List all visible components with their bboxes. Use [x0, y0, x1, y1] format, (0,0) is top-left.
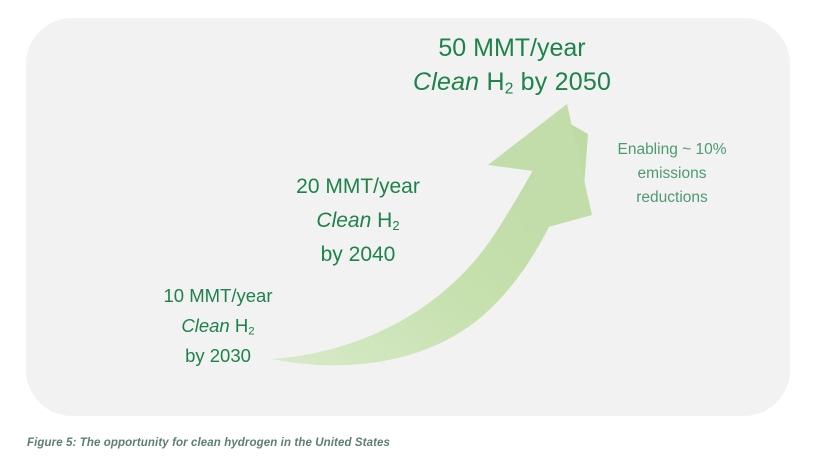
milestone-2040-h-symbol: H: [377, 209, 392, 232]
milestone-2040-fuel: Clean H2: [238, 204, 478, 238]
milestone-2050-fuel: Clean H2 by 2050: [362, 66, 662, 100]
milestone-2040-h-subscript: 2: [392, 218, 399, 233]
figure-container: 10 MMT/year Clean H2 by 2030 20 MMT/year…: [0, 0, 828, 474]
milestone-2030: 10 MMT/year Clean H2 by 2030: [112, 281, 324, 371]
milestone-2030-fuel: Clean H2: [112, 311, 324, 341]
milestone-2040-clean-word: Clean: [316, 209, 371, 232]
milestone-2030-amount: 10 MMT/year: [112, 281, 324, 311]
milestone-2030-year: by 2030: [112, 341, 324, 371]
milestone-2050: 50 MMT/year Clean H2 by 2050: [362, 32, 662, 100]
milestone-2040-amount: 20 MMT/year: [238, 170, 478, 204]
milestone-2050-amount: 50 MMT/year: [362, 32, 662, 66]
milestone-2040: 20 MMT/year Clean H2 by 2040: [238, 170, 478, 272]
emissions-annotation: Enabling ~ 10% emissions reductions: [588, 138, 756, 210]
emissions-annotation-line2: emissions: [588, 162, 756, 186]
milestone-2050-h-subscript: 2: [505, 80, 514, 97]
milestone-2050-h-symbol: H: [486, 68, 504, 96]
milestone-2030-h-symbol: H: [235, 315, 248, 336]
emissions-annotation-line3: reductions: [588, 186, 756, 210]
milestone-2030-clean-word: Clean: [181, 315, 229, 336]
milestone-2050-year: by 2050: [514, 68, 612, 96]
milestone-2030-h-subscript: 2: [248, 325, 254, 337]
milestone-2050-clean-word: Clean: [413, 68, 479, 96]
emissions-annotation-line1: Enabling ~ 10%: [588, 138, 756, 162]
milestone-2040-year: by 2040: [238, 238, 478, 272]
figure-caption: Figure 5: The opportunity for clean hydr…: [27, 437, 390, 449]
